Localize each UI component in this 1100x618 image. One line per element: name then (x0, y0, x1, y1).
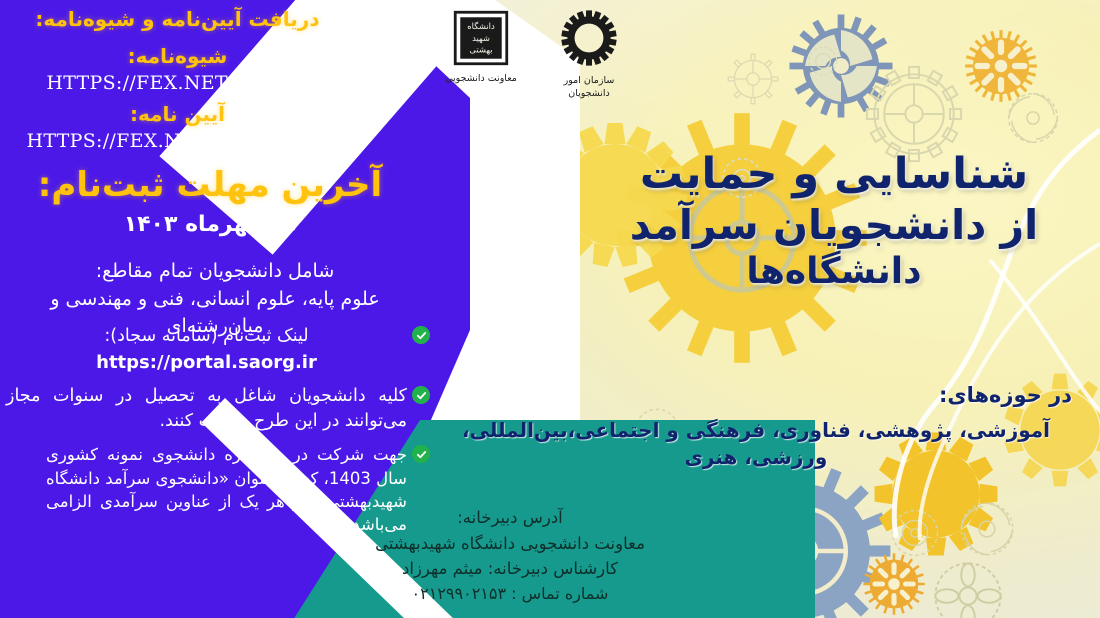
organization-logo-caption-line2: دانشجویان (537, 88, 641, 101)
page-title-line1: شناسایی و حمایت (594, 148, 1074, 200)
gear-icon-outline-bottom-c (920, 548, 1016, 618)
poster-canvas: دریافت آیین‌نامه و شیوه‌نامه: شیوه‌نامه:… (0, 0, 1100, 618)
secretariat-block: آدرس دبیرخانه: معاونت دانشجویی دانشگاه ش… (300, 505, 720, 606)
gear-icon-outline-small-a (722, 48, 784, 110)
deadline-heading: آخرین مهلت ثبت‌نام: (0, 165, 420, 205)
university-logo-caption: معاونت دانشجویی (435, 73, 527, 86)
secretariat-heading: آدرس دبیرخانه: (300, 505, 720, 531)
registration-url[interactable]: https://portal.saorg.ir (6, 350, 407, 376)
secretariat-expert: کارشناس دبیرخانه: میثم مهرزاد (300, 556, 720, 582)
registration-link-label: لینک ثبت‌نام (سامانه سجاد): (104, 326, 308, 346)
fields-value: آموزشی، پژوهشی، فناوری، فرهنگی و اجتماعی… (436, 417, 1076, 471)
deadline-date: ۱۵ مهرماه ۱۴۰۳ (0, 212, 420, 237)
list-item[interactable]: لینک ثبت‌نام (سامانه سجاد): https://port… (6, 324, 430, 375)
secretariat-phone: شماره تماس : ۰۲۱۲۹۹۰۲۱۵۳ (300, 582, 720, 607)
regulation-url[interactable]: HTTPS://FEX.NET/S/DL3PFV4 (0, 130, 355, 152)
logo-row: دانشگاه شهید بهشتی معاونت دانشجویی (425, 6, 645, 111)
eligibility-note: کلیه دانشجویان شاغل به تحصیل در سنوات مج… (6, 384, 407, 434)
organization-logo-caption: سازمان امور دانشجویان (537, 75, 641, 101)
downloads-heading: دریافت آیین‌نامه و شیوه‌نامه: (0, 6, 355, 32)
page-title: شناسایی و حمایت از دانشجویان سرآمد دانشگ… (594, 148, 1074, 294)
svg-text:شهید: شهید (472, 33, 490, 43)
eligible-levels-line1: شامل دانشجویان تمام مقاطع: (0, 258, 430, 286)
svg-text:دانشگاه: دانشگاه (467, 21, 495, 31)
organization-logo-block: سازمان امور دانشجویان (537, 8, 641, 101)
gear-icon-outline-spiral-right (995, 80, 1071, 156)
gear-icon-outline-small-b (800, 38, 846, 84)
svg-text:بهشتی: بهشتی (469, 45, 492, 55)
shahid-beheshti-university-logo-icon: دانشگاه شهید بهشتی (453, 10, 509, 66)
student-affairs-organization-logo-icon (559, 8, 619, 68)
check-circle-icon (412, 386, 430, 404)
check-circle-icon (412, 326, 430, 344)
fields-block: در حوزه‌های: آموزشی، پژوهشی، فناوری، فره… (436, 383, 1076, 471)
page-title-line3: دانشگاه‌ها (594, 250, 1074, 294)
secretariat-office: معاونت دانشجویی دانشگاه شهیدبهشتی (300, 531, 720, 557)
regulation-label: آیین نامه: (0, 102, 355, 126)
method-url[interactable]: HTTPS://FEX.NET/S/XSK1 (0, 72, 355, 94)
check-circle-icon (412, 445, 430, 463)
organization-logo-caption-line1: سازمان امور (537, 75, 641, 88)
list-item-body: لینک ثبت‌نام (سامانه سجاد): https://port… (6, 324, 407, 375)
fields-label: در حوزه‌های: (436, 383, 1076, 407)
page-title-line2: از دانشجویان سرآمد (594, 200, 1074, 250)
university-logo-block: دانشگاه شهید بهشتی معاونت دانشجویی (435, 10, 527, 86)
list-item: کلیه دانشجویان شاغل به تحصیل در سنوات مج… (6, 384, 430, 434)
method-label: شیوه‌نامه: (0, 44, 355, 68)
